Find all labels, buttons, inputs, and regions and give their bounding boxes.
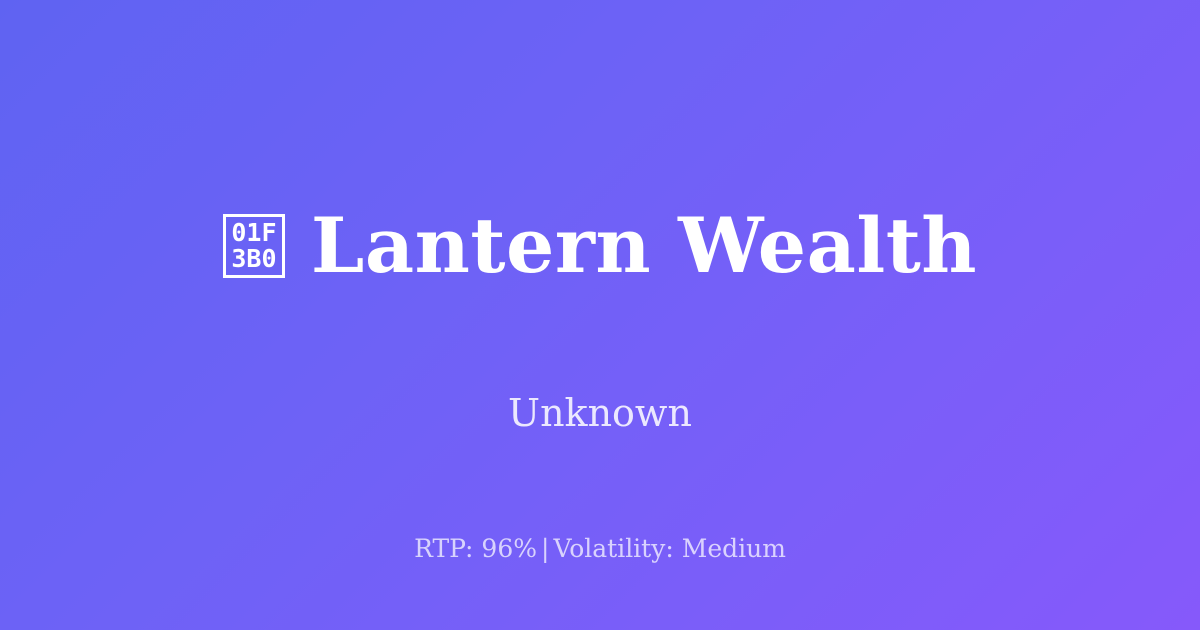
page-title: Lantern Wealth: [311, 206, 977, 286]
share-card: 01F 3B0 Lantern Wealth Unknown RTP: 96%|…: [0, 0, 1200, 630]
tofu-codepoint-line-2: 3B0: [231, 246, 276, 272]
volatility-value: Volatility: Medium: [553, 534, 785, 563]
tofu-codepoint-line-1: 01F: [231, 220, 276, 246]
card-footer-stats: RTP: 96%|Volatility: Medium: [0, 534, 1200, 564]
title-row: 01F 3B0 Lantern Wealth: [223, 155, 977, 337]
rtp-value: RTP: 96%: [414, 534, 537, 563]
slot-machine-icon: 01F 3B0: [223, 214, 285, 278]
footer-separator: |: [537, 534, 553, 563]
card-subtitle: Unknown: [508, 391, 692, 437]
